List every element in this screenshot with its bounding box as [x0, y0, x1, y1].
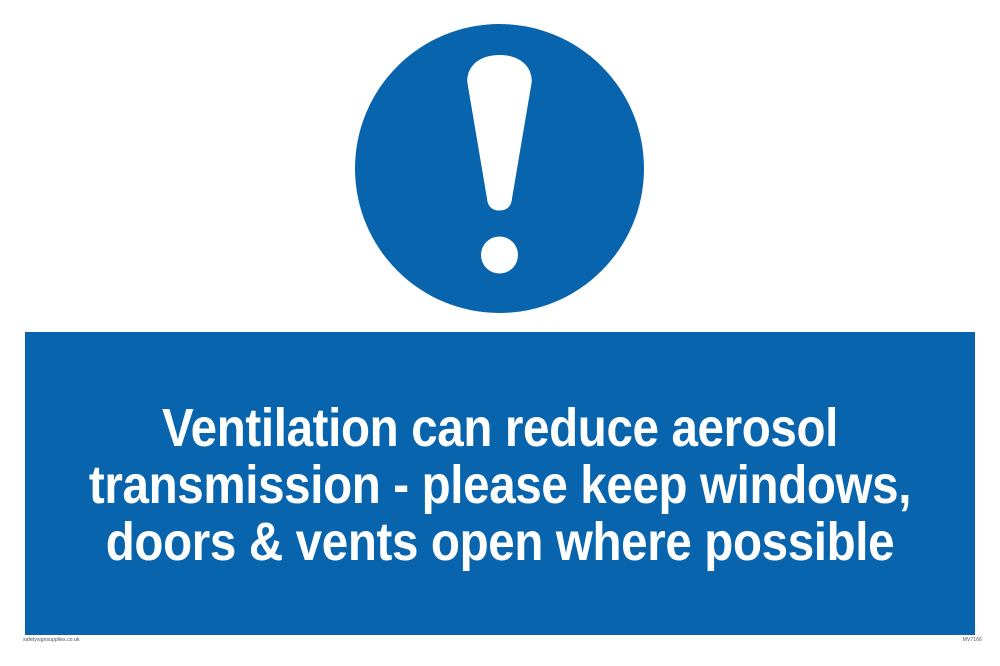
product-code-text: MV7166 [963, 637, 982, 644]
message-line-2: transmission - please keep windows, [82, 457, 918, 514]
safety-sign-canvas: Ventilation can reduce aerosol transmiss… [0, 0, 1000, 666]
exclamation-mark-dot [481, 237, 518, 274]
message-line-3: doors & vents open where possible [82, 514, 918, 571]
exclamation-mark-in-filled-circle-icon [355, 24, 644, 313]
message-panel: Ventilation can reduce aerosol transmiss… [25, 332, 975, 635]
footer-strip: safetysignsupplies.co.uk MV7166 [0, 637, 1000, 651]
message-line-1: Ventilation can reduce aerosol [82, 400, 918, 457]
pictogram-area [0, 0, 1000, 330]
website-credit-text: safetysignsupplies.co.uk [23, 637, 80, 644]
sign-message-text: Ventilation can reduce aerosol transmiss… [82, 332, 918, 571]
